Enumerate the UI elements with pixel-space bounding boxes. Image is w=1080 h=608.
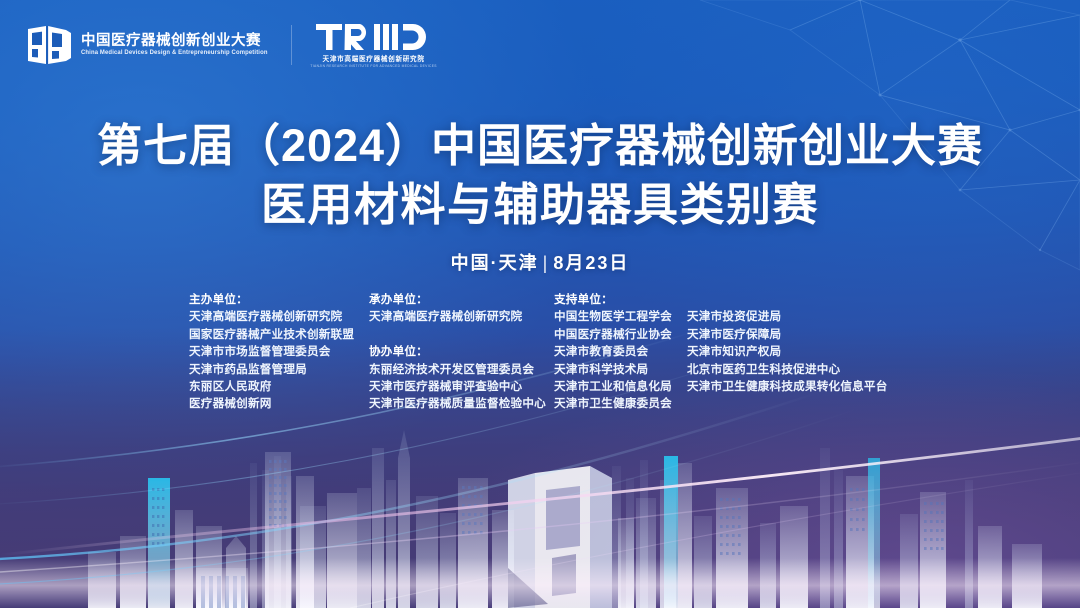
org-item: 东丽经济技术开发区管理委员会 bbox=[369, 361, 554, 378]
org-item: 天津市知识产权局 bbox=[687, 343, 888, 360]
org-item: 国家医疗器械产业技术创新联盟 bbox=[189, 326, 369, 343]
logo-divider bbox=[291, 25, 292, 65]
org-item: 天津高端医疗器械创新研究院 bbox=[369, 308, 554, 325]
main-title-line2: 医用材料与辅助器具类别赛 bbox=[0, 175, 1080, 234]
org-item: 天津市工业和信息化局 bbox=[554, 378, 687, 395]
event-subtitle: 中国·天津|8月23日 bbox=[0, 249, 1080, 275]
event-location: 中国·天津 bbox=[451, 253, 539, 273]
triid-cn-text: 天津市高端医疗器械创新研究院 bbox=[323, 53, 425, 63]
org-heading-coorganizer: 协办单位： bbox=[369, 343, 554, 360]
main-title-line1: 第七届（2024）中国医疗器械创新创业大赛 bbox=[0, 116, 1080, 175]
org-item: 天津市市场监督管理委员会 bbox=[189, 343, 369, 360]
org-heading-host: 主办单位： bbox=[189, 291, 369, 308]
org-spacer bbox=[369, 326, 554, 343]
title-block: 第七届（2024）中国医疗器械创新创业大赛 医用材料与辅助器具类别赛 中国·天津… bbox=[0, 116, 1080, 275]
org-item: 中国医疗器械行业协会 bbox=[554, 326, 687, 343]
subtitle-separator: | bbox=[539, 253, 554, 274]
organizations-block: 主办单位： 天津高端医疗器械创新研究院 国家医疗器械产业技术创新联盟 天津市市场… bbox=[189, 291, 888, 413]
main-logo-cn-text: 中国医疗器械创新创业大赛 bbox=[81, 33, 273, 50]
org-item: 天津市医疗器械审评查验中心 bbox=[369, 378, 554, 395]
main-competition-logo: 中国医疗器械创新创业大赛 China Medical Devices Desig… bbox=[26, 23, 273, 67]
org-column-host: 主办单位： 天津高端医疗器械创新研究院 国家医疗器械产业技术创新联盟 天津市市场… bbox=[189, 291, 369, 413]
org-item: 天津高端医疗器械创新研究院 bbox=[189, 308, 369, 325]
org-item: 北京市医药卫生科技促进中心 bbox=[687, 361, 888, 378]
header-logos: 中国医疗器械创新创业大赛 China Medical Devices Desig… bbox=[26, 22, 437, 68]
city-skyline-silhouette-icon bbox=[0, 418, 1080, 608]
org-item: 天津市药品监督管理局 bbox=[189, 361, 369, 378]
poster-canvas: 中国医疗器械创新创业大赛 China Medical Devices Desig… bbox=[0, 0, 1080, 608]
org-item: 天津市卫生健康科技成果转化信息平台 bbox=[687, 378, 888, 395]
org-item: 中国生物医学工程学会 bbox=[554, 308, 687, 325]
org-item: 天津市医疗保障局 bbox=[687, 326, 888, 343]
org-item: 天津市卫生健康委员会 bbox=[554, 395, 687, 412]
main-logo-en-text: China Medical Devices Design & Entrepren… bbox=[81, 49, 268, 57]
door-frame-logo-icon bbox=[26, 23, 72, 67]
org-heading-supporter: 支持单位： bbox=[554, 291, 687, 308]
org-column-organizer: 承办单位： 天津高端医疗器械创新研究院 协办单位： 东丽经济技术开发区管理委员会… bbox=[369, 291, 554, 413]
triid-wordmark-icon bbox=[316, 22, 432, 52]
event-date: 8月23日 bbox=[553, 253, 629, 273]
org-item: 天津市科学技术局 bbox=[554, 361, 687, 378]
org-item: 天津市教育委员会 bbox=[554, 343, 687, 360]
org-column-supporter-a: 支持单位： 中国生物医学工程学会 中国医疗器械行业协会 天津市教育委员会 天津市… bbox=[554, 291, 687, 413]
org-item: 天津市投资促进局 bbox=[687, 308, 888, 325]
org-heading-organizer: 承办单位： bbox=[369, 291, 554, 308]
org-column-supporter-b: 天津市投资促进局 天津市医疗保障局 天津市知识产权局 北京市医药卫生科技促进中心… bbox=[687, 291, 888, 395]
org-spacer bbox=[687, 291, 888, 308]
org-item: 天津市医疗器械质量监督检验中心 bbox=[369, 395, 554, 412]
triid-institute-logo: 天津市高端医疗器械创新研究院 TIANJIN RESEARCH INSTITUT… bbox=[310, 22, 436, 68]
org-item: 东丽区人民政府 bbox=[189, 378, 369, 395]
org-item: 医疗器械创新网 bbox=[189, 395, 369, 412]
triid-en-text: TIANJIN RESEARCH INSTITUTE FOR ADVANCED … bbox=[310, 64, 436, 68]
